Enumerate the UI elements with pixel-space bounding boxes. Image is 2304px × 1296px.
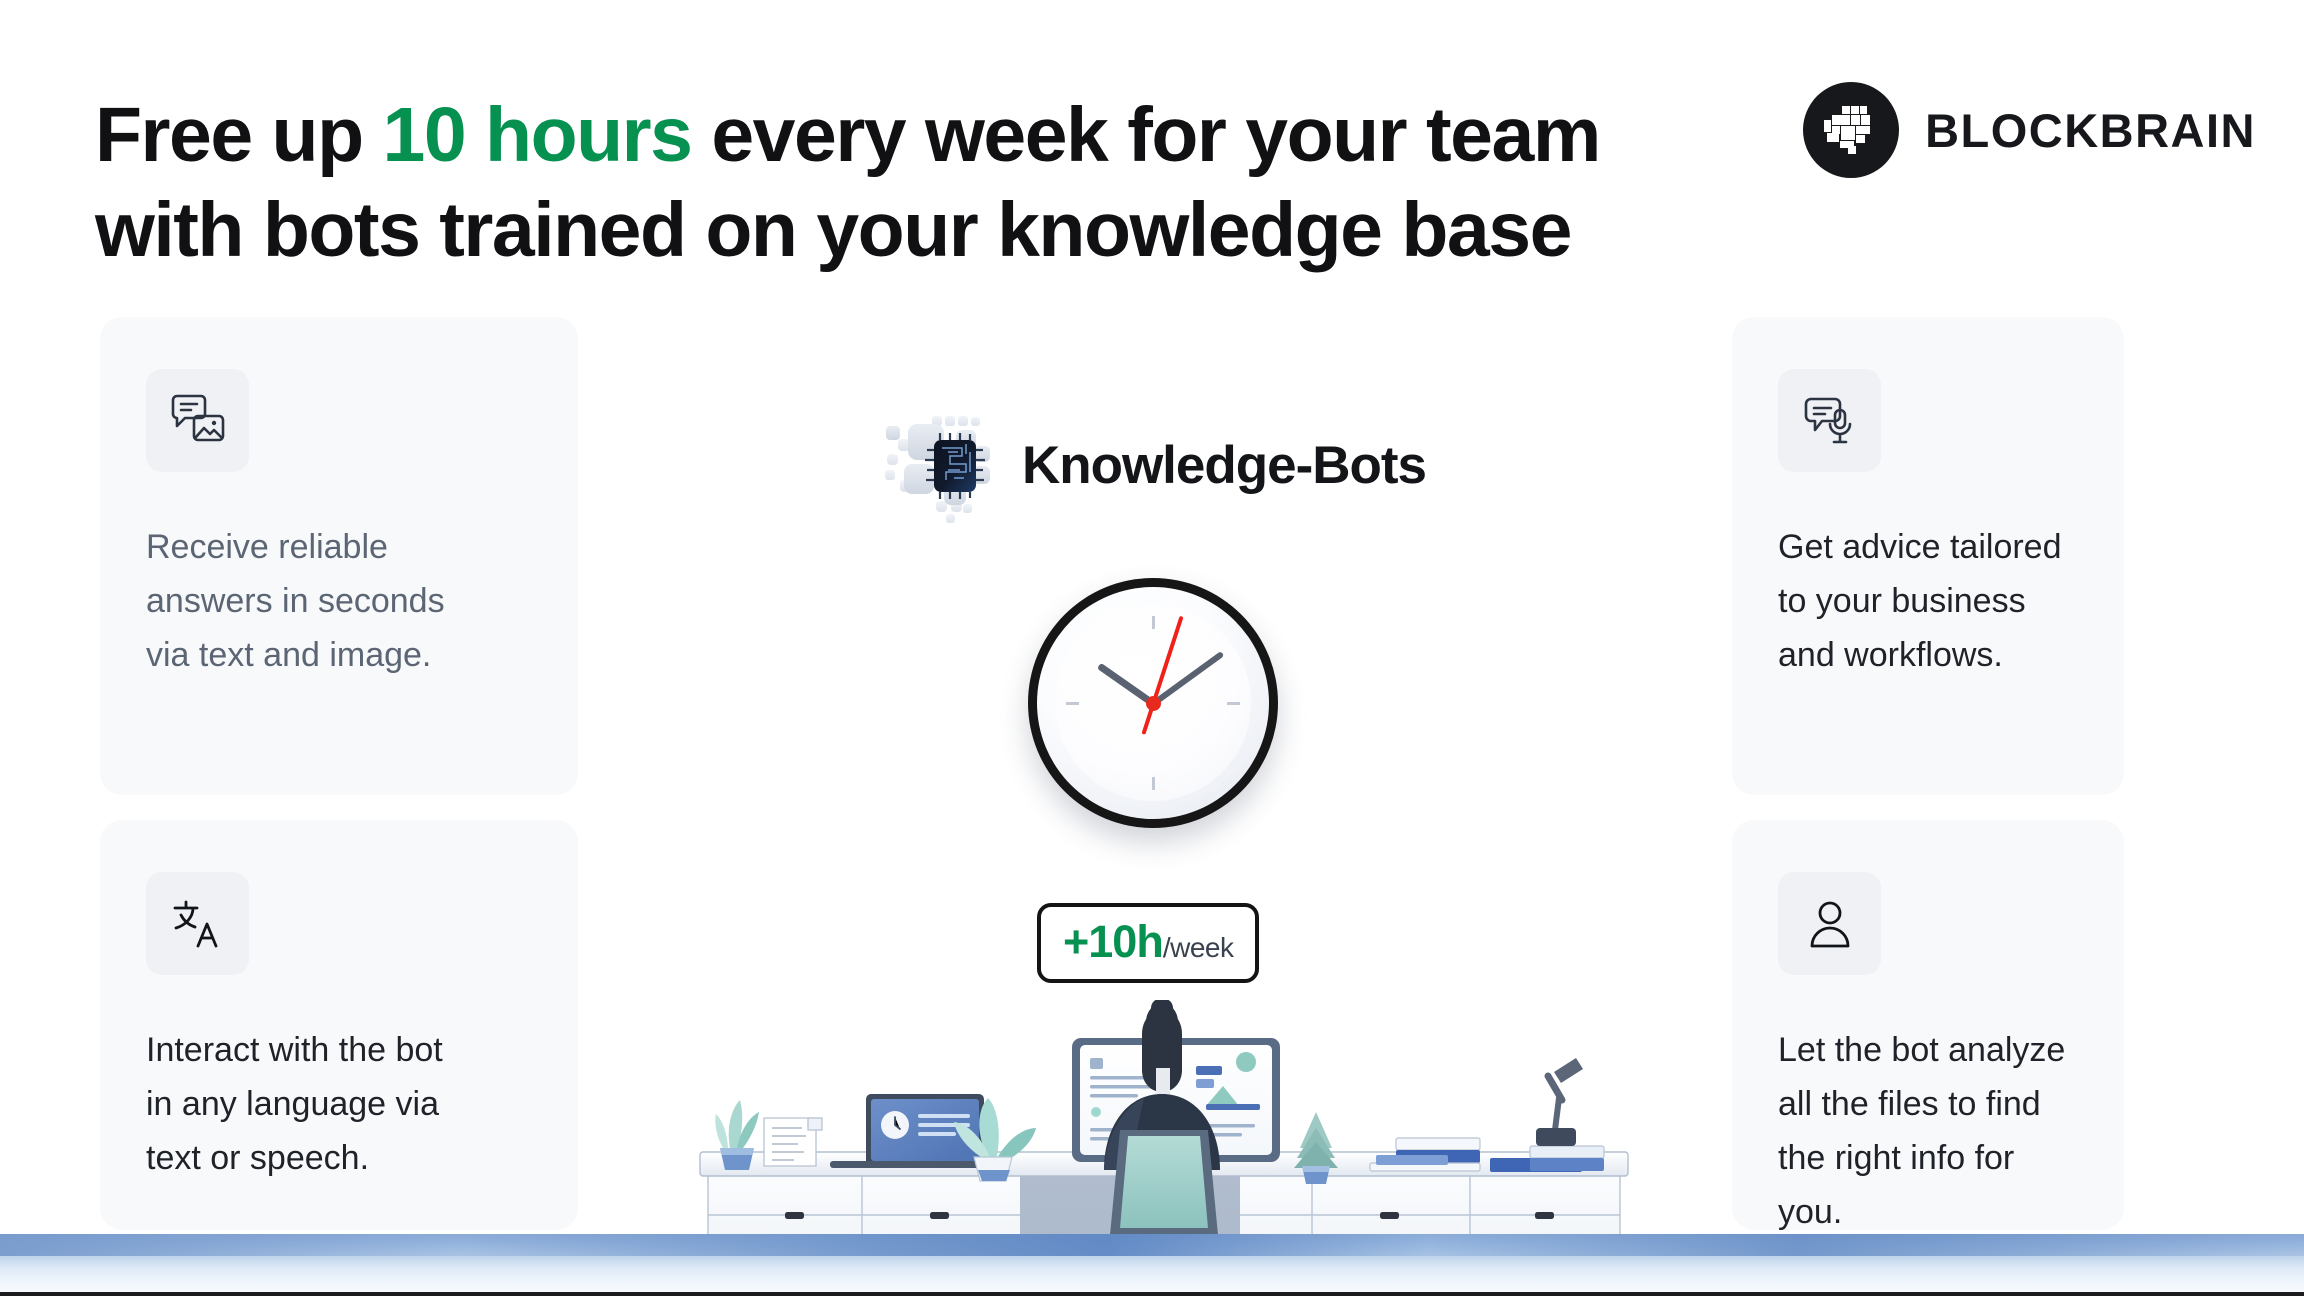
chat-image-icon	[146, 369, 249, 472]
brand-name: BLOCKBRAIN	[1925, 103, 2256, 158]
floor-reflection	[0, 1234, 2304, 1256]
chat-microphone-icon	[1778, 369, 1881, 472]
clock-tick-6	[1152, 777, 1155, 790]
clock-tick-9	[1066, 702, 1079, 705]
wall-clock	[1028, 578, 1278, 828]
knowledge-bots-header: Knowledge-Bots	[700, 408, 1600, 523]
badge-value: +10h	[1063, 916, 1163, 968]
feature-card-text: Receive reliable answers in seconds via …	[146, 520, 532, 682]
clock-tick-12	[1152, 616, 1155, 629]
pixel-brain-icon	[1803, 82, 1899, 178]
time-saved-badge: +10h /week	[1037, 903, 1259, 983]
clock-center-pivot	[1146, 696, 1161, 711]
headline-accent: 10 hours	[383, 92, 692, 178]
brand-logo: BLOCKBRAIN	[1803, 82, 2256, 178]
feature-card-multilingual: Interact with the bot in any language vi…	[100, 820, 578, 1230]
translate-icon	[146, 872, 249, 975]
clock-tick-3	[1227, 702, 1240, 705]
feature-card-receive-answers: Receive reliable answers in seconds via …	[100, 317, 578, 795]
feature-card-text: Let the bot analyze all the files to fin…	[1778, 1023, 2078, 1239]
knowledge-bots-title: Knowledge-Bots	[1022, 435, 1426, 496]
clock-face	[1037, 587, 1269, 819]
feature-card-analyze-files: Let the bot analyze all the files to fin…	[1732, 820, 2124, 1230]
headline-text-before: Free up	[95, 92, 383, 178]
feature-card-tailored-advice: Get advice tailored to your business and…	[1732, 317, 2124, 795]
feature-card-text: Interact with the bot in any language vi…	[146, 1023, 532, 1185]
floor-strip	[0, 1234, 2304, 1296]
badge-unit: /week	[1163, 932, 1234, 964]
ai-chip-icon	[874, 408, 1004, 523]
user-icon	[1778, 872, 1881, 975]
clock-inner-face	[1055, 605, 1251, 801]
feature-card-text: Get advice tailored to your business and…	[1778, 520, 2078, 682]
